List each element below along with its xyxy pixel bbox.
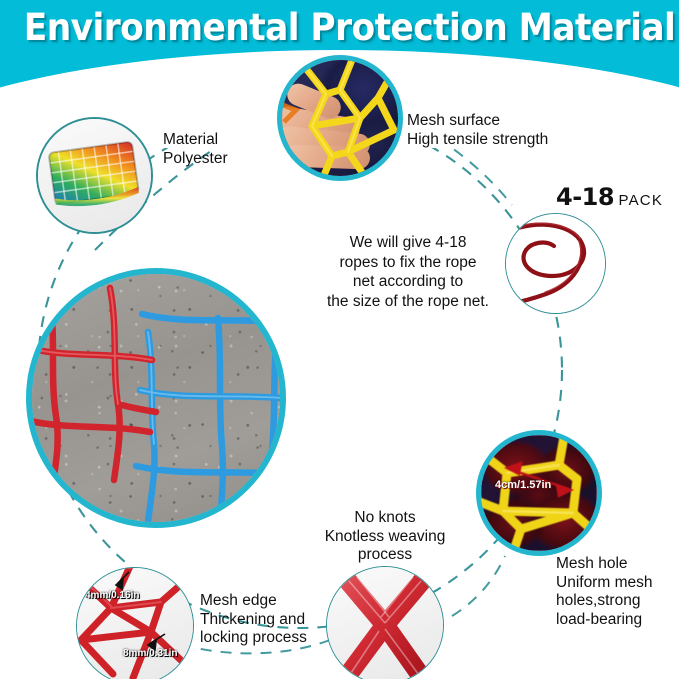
bubble-no-knots-photo bbox=[326, 566, 444, 679]
bubble-hero-photo bbox=[26, 268, 286, 528]
bubble-mesh-surface-photo bbox=[277, 55, 403, 181]
hand-holding-yellow-mesh-photo bbox=[282, 60, 398, 176]
red-mesh-edge-closeup-photo bbox=[77, 568, 193, 679]
bubble-mesh-edge-photo: 4mm/0.16in 8mm/0.31in bbox=[76, 567, 194, 679]
page-title: Environmental Protection Material bbox=[24, 6, 655, 49]
coiled-dark-red-rope-photo bbox=[506, 214, 605, 313]
bubble-material-photo bbox=[36, 117, 153, 234]
label-mesh-surface: Mesh surface High tensile strength bbox=[407, 112, 548, 149]
bubble-rope-photo bbox=[505, 213, 606, 314]
folded-rainbow-net-photo bbox=[38, 119, 151, 232]
label-no-knots: No knots Knotless weaving process bbox=[310, 509, 460, 565]
red-blue-rope-net-on-concrete-photo bbox=[32, 274, 280, 522]
red-knotless-x-junction-photo bbox=[327, 567, 443, 679]
label-mesh-edge: Mesh edge Thickening and locking process bbox=[200, 592, 307, 648]
label-mesh-hole: Mesh hole Uniform mesh holes,strong load… bbox=[556, 555, 652, 629]
measurement-edge-thick: 8mm/0.31in bbox=[123, 648, 177, 659]
yellow-mesh-hole-closeup-photo bbox=[481, 435, 597, 551]
pack-word: PACK bbox=[619, 192, 664, 209]
measurement-edge-thin: 4mm/0.16in bbox=[85, 590, 139, 601]
infographic-canvas: Environmental Protection Material bbox=[0, 0, 679, 679]
center-note: We will give 4-18 ropes to fix the rope … bbox=[318, 233, 498, 311]
pack-count: 4-18 bbox=[556, 183, 614, 211]
measurement-hole-size: 4cm/1.57in bbox=[495, 479, 551, 491]
pack-badge: 4-18 PACK bbox=[556, 183, 663, 211]
bubble-mesh-hole-photo: 4cm/1.57in bbox=[476, 430, 602, 556]
label-material: Material Polyester bbox=[163, 131, 228, 168]
